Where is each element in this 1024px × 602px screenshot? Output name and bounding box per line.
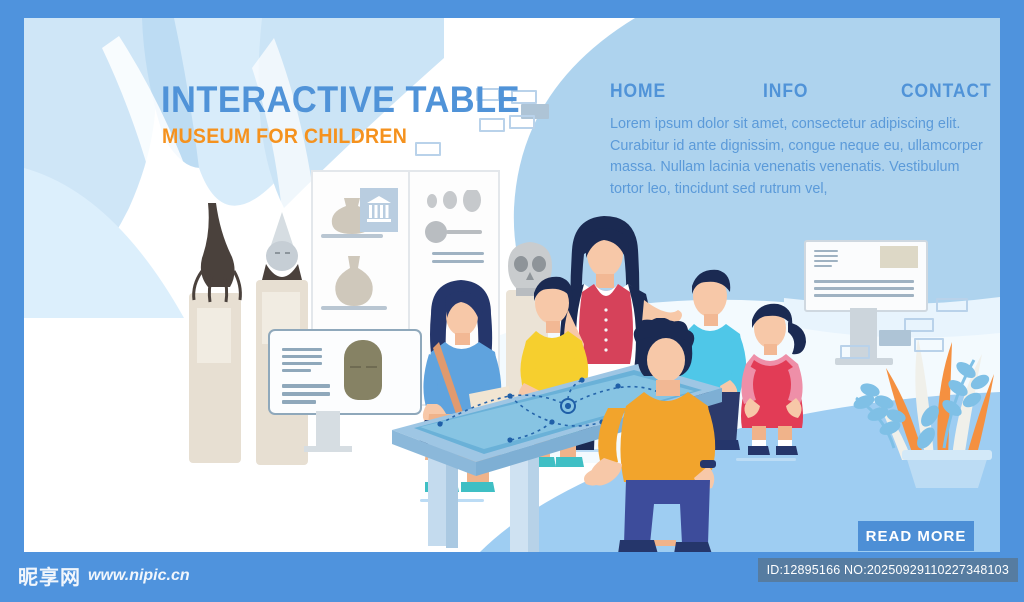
nav-item-contact[interactable]: CONTACT [901,81,992,103]
info-board-image [880,246,918,268]
watermark-url: www.nipic.cn [88,567,190,585]
stone-head-artifact [344,340,382,400]
board-line [814,250,838,252]
info-line [282,348,322,351]
deco-rect [840,345,870,359]
board-line [814,260,838,262]
pedestal-spear-plaque [197,308,231,363]
board-line [814,265,832,267]
scene-canvas: INTERACTIVE TABLE MUSEUM FOR CHILDREN HO… [24,18,1000,552]
frame-top [0,0,1024,18]
deco-rect [914,338,944,352]
girl-red [736,302,816,462]
vase-lower [328,256,380,308]
watermark: 昵享网 www.nipic.cn [18,561,190,590]
page-subtitle: MUSEUM FOR CHILDREN [162,125,407,149]
info-panel-base [304,446,352,452]
spear-artifact [184,203,252,303]
board-line [814,287,914,290]
info-line [282,369,311,372]
nav-item-info[interactable]: INFO [763,81,808,103]
board-line [814,255,838,257]
poster-canvas: INTERACTIVE TABLE MUSEUM FOR CHILDREN HO… [0,0,1024,602]
frame-right [1000,0,1024,602]
egg-wall-display [420,190,500,275]
read-more-button[interactable]: READ MORE [858,521,974,551]
stone-head-eye [366,366,377,368]
page-title: INTERACTIVE TABLE [161,79,520,121]
info-line [282,384,330,388]
museum-building-icon [365,194,393,226]
image-id-badge: ID:12895166 NO:20250929110227348103 [758,558,1018,582]
watermark-brand: 昵享网 [18,561,81,590]
info-line [282,392,330,396]
info-line [282,362,322,365]
lead-paragraph: Lorem ipsum dolor sit amet, consectetur … [610,114,988,200]
info-panel-stand [316,411,340,449]
info-line [282,400,316,404]
deco-rect [879,330,911,346]
stone-head-eye [350,366,361,368]
board-line [814,280,914,283]
boy-orange [584,318,734,552]
board-line [814,294,914,297]
statue-bust [250,210,314,285]
nav-item-home[interactable]: HOME [610,81,666,103]
frame-left [0,0,24,602]
info-line [282,355,322,358]
deco-rect [936,298,968,312]
deco-rect [415,142,441,156]
